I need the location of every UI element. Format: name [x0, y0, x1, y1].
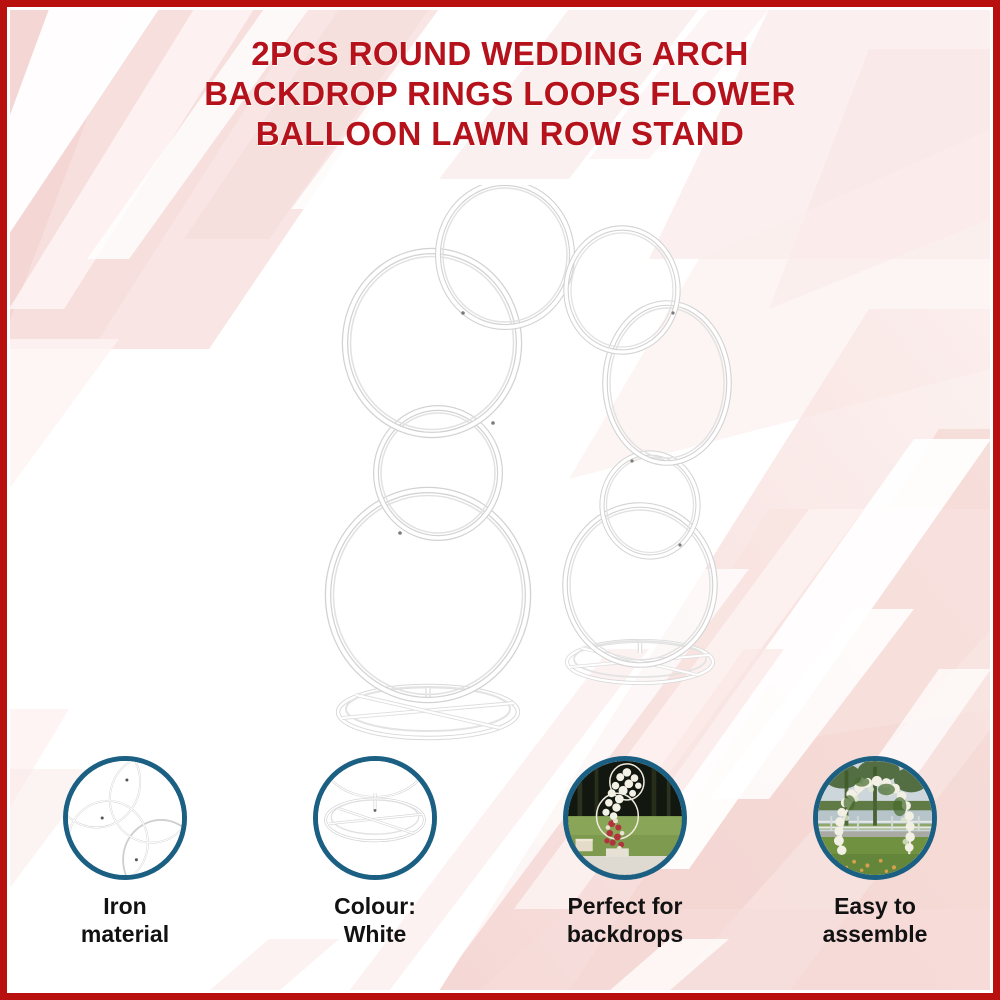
stand-right	[565, 228, 729, 683]
feature-label-easy-to-assemble: Easy to assemble	[823, 892, 928, 948]
stand-left	[328, 185, 572, 738]
floral-ring-night-photo	[568, 761, 682, 875]
title-line-1: 2PCS ROUND WEDDING ARCH	[0, 34, 1000, 74]
title-line-2: BACKDROP RINGS LOOPS FLOWER	[0, 74, 1000, 114]
floral-ring-night-photo-icon	[563, 756, 687, 880]
feature-label-line-2: White	[344, 921, 407, 947]
feature-item-perfect-for-backdrops[interactable]: Perfect for backdrops	[500, 756, 750, 966]
floral-arch-lakeside-photo-icon	[813, 756, 937, 880]
feature-item-colour-white[interactable]: Colour: White	[250, 756, 500, 966]
ring-closeup-icon	[63, 756, 187, 880]
product-hero-image	[250, 185, 770, 755]
feature-label-line-2: backdrops	[567, 921, 683, 947]
feature-badges: Iron material	[0, 756, 1000, 966]
product-banner: 2PCS ROUND WEDDING ARCH BACKDROP RINGS L…	[0, 0, 1000, 1000]
feature-item-easy-to-assemble[interactable]: Easy to assemble	[750, 756, 1000, 966]
feature-label-line-1: Perfect for	[567, 893, 682, 919]
title-line-3: BALLOON LAWN ROW STAND	[0, 114, 1000, 154]
base-plate-lineart	[318, 761, 432, 875]
stand-right-ring-1	[566, 228, 678, 352]
base-plate-icon	[313, 756, 437, 880]
feature-label-line-2: assemble	[823, 921, 928, 947]
feature-label-line-1: Iron	[103, 893, 146, 919]
ring-stands-illustration	[250, 185, 770, 755]
feature-label-colour-white: Colour: White	[334, 892, 416, 948]
banner-title: 2PCS ROUND WEDDING ARCH BACKDROP RINGS L…	[0, 34, 1000, 154]
feature-label-line-2: material	[81, 921, 169, 947]
stand-left-ring-4	[328, 490, 528, 700]
feature-label-iron-material: Iron material	[81, 892, 169, 948]
ring-closeup-lineart	[68, 761, 182, 875]
feature-label-line-1: Colour:	[334, 893, 416, 919]
feature-label-perfect-for-backdrops: Perfect for backdrops	[567, 892, 683, 948]
feature-item-iron-material[interactable]: Iron material	[0, 756, 250, 966]
floral-arch-lakeside-photo	[818, 761, 932, 875]
feature-label-line-1: Easy to	[834, 893, 916, 919]
